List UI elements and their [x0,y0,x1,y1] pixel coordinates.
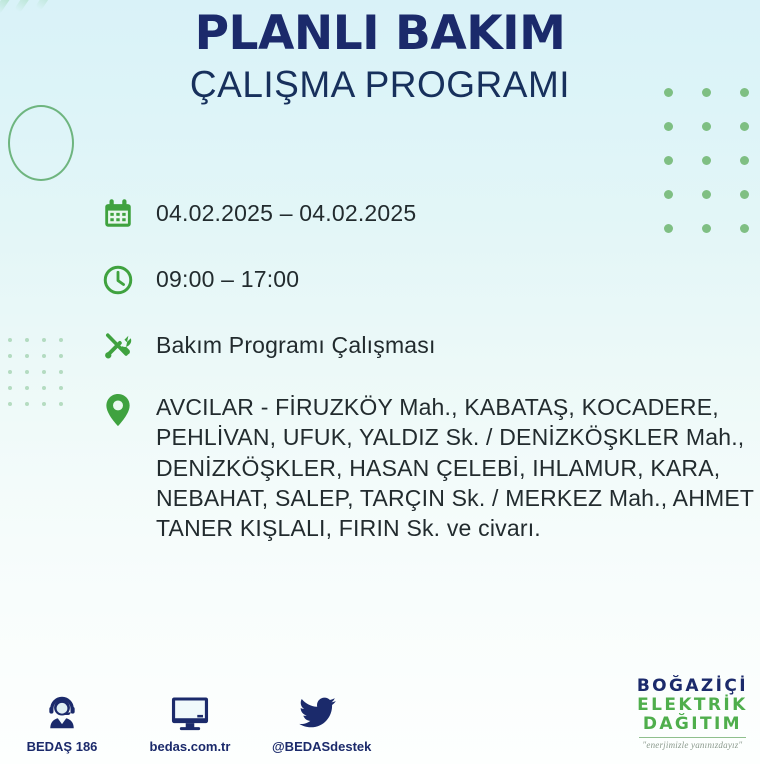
monitor-icon [144,686,236,732]
date-range-value: 04.02.2025 – 04.02.2025 [140,192,416,225]
logo-line-bogazici: BOĞAZİÇİ [637,678,748,695]
page-subtitle: ÇALIŞMA PROGRAMI [0,59,760,106]
dot-grid-left-decoration [8,338,76,418]
detail-row-location: AVCILAR - FİRUZKÖY Mah., KABATAŞ, KOCADE… [96,388,756,544]
work-type-value: Bakım Programı Çalışması [140,324,436,357]
detail-row-work-type: Bakım Programı Çalışması [96,324,756,368]
clock-icon [96,258,140,302]
location-pin-icon [96,388,140,432]
detail-row-time: 09:00 – 17:00 [96,258,756,302]
planned-maintenance-poster: PLANLI BAKIM ÇALIŞMA PROGRAMI [0,0,760,764]
logo-divider [639,737,746,738]
website-label: bedas.com.tr [144,739,236,754]
contact-channels: BEDAŞ 186 bedas.com.tr [16,686,364,754]
call-center-label: BEDAŞ 186 [16,739,108,754]
contact-website[interactable]: bedas.com.tr [144,686,236,754]
tools-icon [96,324,140,368]
call-center-agent-icon [16,686,108,732]
calendar-icon [96,192,140,236]
bedas-logo: BOĞAZİÇİ ELEKTRİK DAĞITIM "enerjimizle y… [637,678,748,750]
poster-footer: BEDAŞ 186 bedas.com.tr [0,654,760,764]
logo-line-dagitim: DAĞITIM [637,716,748,733]
page-title: PLANLI BAKIM [0,0,760,59]
time-range-value: 09:00 – 17:00 [140,258,299,291]
contact-call-center[interactable]: BEDAŞ 186 [16,686,108,754]
location-value: AVCILAR - FİRUZKÖY Mah., KABATAŞ, KOCADE… [140,388,756,544]
circle-outline-decoration [8,105,74,181]
twitter-bird-icon [272,686,364,732]
twitter-handle-label: @BEDASdestek [272,739,364,754]
logo-line-elektrik: ELEKTRİK [637,697,748,714]
contact-twitter[interactable]: @BEDASdestek [272,686,364,754]
detail-row-date: 04.02.2025 – 04.02.2025 [96,192,756,236]
poster-header: PLANLI BAKIM ÇALIŞMA PROGRAMI [0,0,760,106]
maintenance-details: 04.02.2025 – 04.02.2025 09:00 – 17:00 [96,192,756,564]
logo-slogan: "enerjimizle yanınızdayız" [637,741,748,750]
